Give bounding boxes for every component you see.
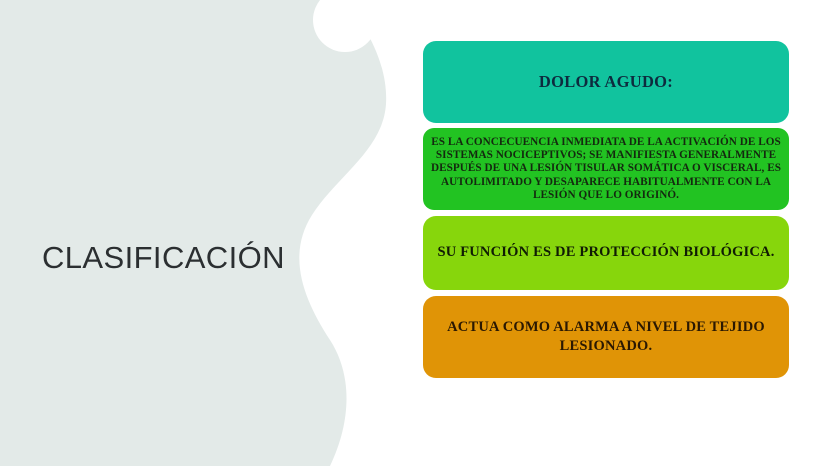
presentation-slide: CLASIFICACIÓN DOLOR AGUDO: ES LA CONCECU… <box>0 0 828 466</box>
page-title: CLASIFICACIÓN <box>42 240 342 276</box>
content-box-definicion: ES LA CONCECUENCIA INMEDIATA DE LA ACTIV… <box>423 128 789 210</box>
content-box-alarma-label: ACTUA COMO ALARMA A NIVEL DE TEJIDO LESI… <box>423 318 789 356</box>
content-box-stack: DOLOR AGUDO: ES LA CONCECUENCIA INMEDIAT… <box>423 41 789 378</box>
content-box-dolor-agudo: DOLOR AGUDO: <box>423 41 789 123</box>
content-box-dolor-agudo-label: DOLOR AGUDO: <box>423 72 789 92</box>
content-box-funcion: SU FUNCIÓN ES DE PROTECCIÓN BIOLÓGICA. <box>423 216 789 290</box>
content-box-definicion-label: ES LA CONCECUENCIA INMEDIATA DE LA ACTIV… <box>423 136 789 201</box>
content-box-alarma: ACTUA COMO ALARMA A NIVEL DE TEJIDO LESI… <box>423 296 789 378</box>
content-box-funcion-label: SU FUNCIÓN ES DE PROTECCIÓN BIOLÓGICA. <box>423 244 789 261</box>
